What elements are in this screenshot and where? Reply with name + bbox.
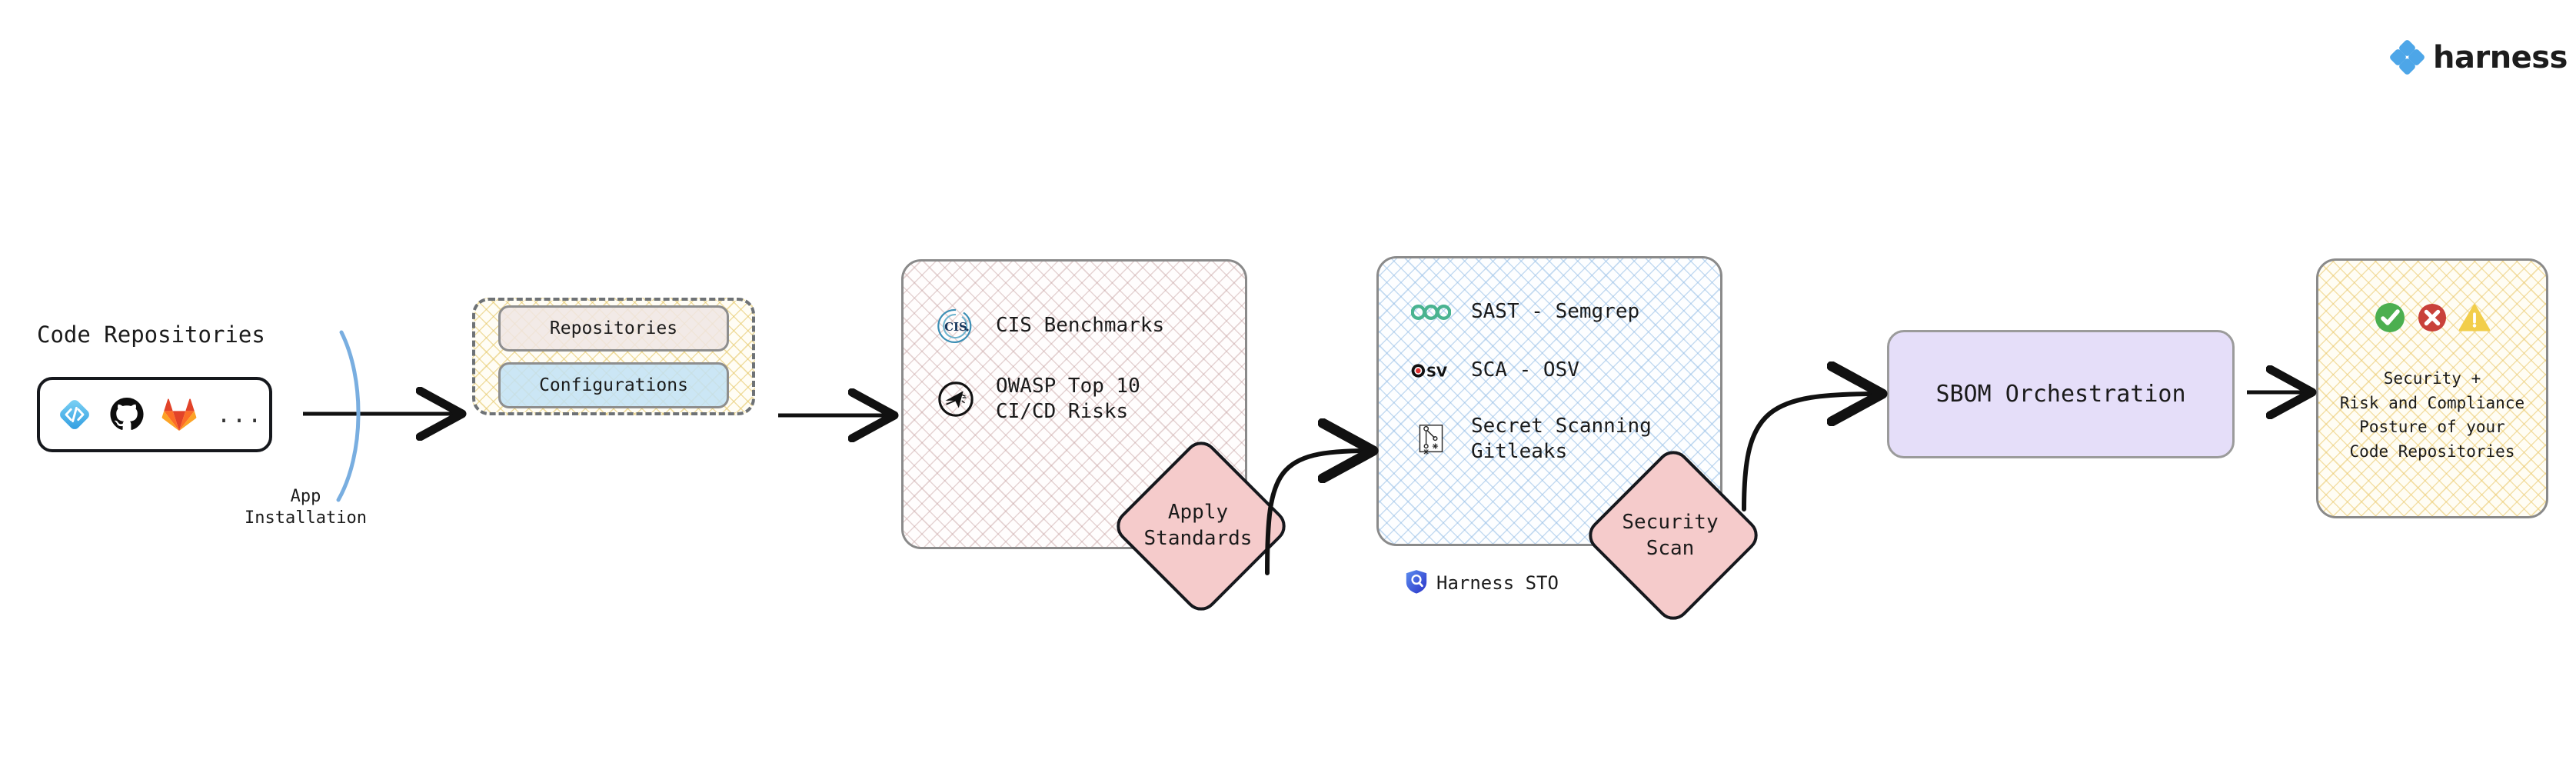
standards-row-cis: CIS CIS Benchmarks [904,306,1245,346]
semgrep-logo-icon [1411,292,1451,332]
gitlab-icon [161,397,197,432]
scan-label-sca: SCA - OSV [1471,358,1579,383]
outcome-label: Security + Risk and Compliance Posture o… [2340,367,2524,464]
harness-sto-shield-icon [1406,569,1427,597]
standards-label-cis: CIS Benchmarks [996,313,1164,338]
scan-label-sast: SAST - Semgrep [1471,299,1639,325]
github-icon [109,397,145,432]
harness-diamond-logo-icon [2391,42,2424,74]
more-repositories-ellipsis: ... [217,401,263,428]
pill-configurations[interactable]: Configurations [498,362,729,408]
arrow-scan-to-sbom [1744,394,1878,509]
error-circle-icon [2418,303,2447,335]
outcome-card: Security + Risk and Compliance Posture o… [2316,258,2548,518]
outcome-status-icons [2375,302,2490,336]
code-repositories-title: Code Repositories [37,322,265,348]
pill-repositories[interactable]: Repositories [498,305,729,352]
gitleaks-logo-icon [1411,419,1451,459]
sbom-orchestration-box[interactable]: SBOM Orchestration [1887,330,2235,458]
svg-text:CIS: CIS [944,320,967,334]
harness-code-icon [57,397,92,432]
apply-standards-label: Apply Standards [1110,500,1286,552]
app-installation-curve [338,332,358,500]
warning-triangle-icon [2459,304,2490,335]
code-repositories-box: ... [37,377,272,452]
check-circle-icon [2375,302,2405,336]
owasp-logo-icon [936,379,976,419]
standards-label-owasp: OWASP Top 10 CI/CD Risks [996,374,1140,425]
svg-text:SV: SV [1426,364,1447,380]
platform-group-container: Repositories Configurations [472,298,755,415]
app-installation-label: App Installation [245,486,367,528]
scan-label-secret: Secret Scanning Gitleaks [1471,414,1652,465]
osv-logo-icon: SV [1411,351,1451,391]
standards-row-owasp: OWASP Top 10 CI/CD Risks [904,374,1245,425]
harness-wordmark: harness [2433,40,2568,75]
scan-row-sast: SAST - Semgrep [1379,292,1720,332]
harness-sto-caption: Harness STO [1406,569,1559,597]
scan-row-sca: SV SCA - OSV [1379,351,1720,391]
cis-logo-icon: CIS [936,306,976,346]
security-scan-label: Security Scan [1582,510,1759,562]
harness-logo: harness [2391,40,2568,75]
harness-sto-label: Harness STO [1436,572,1559,594]
